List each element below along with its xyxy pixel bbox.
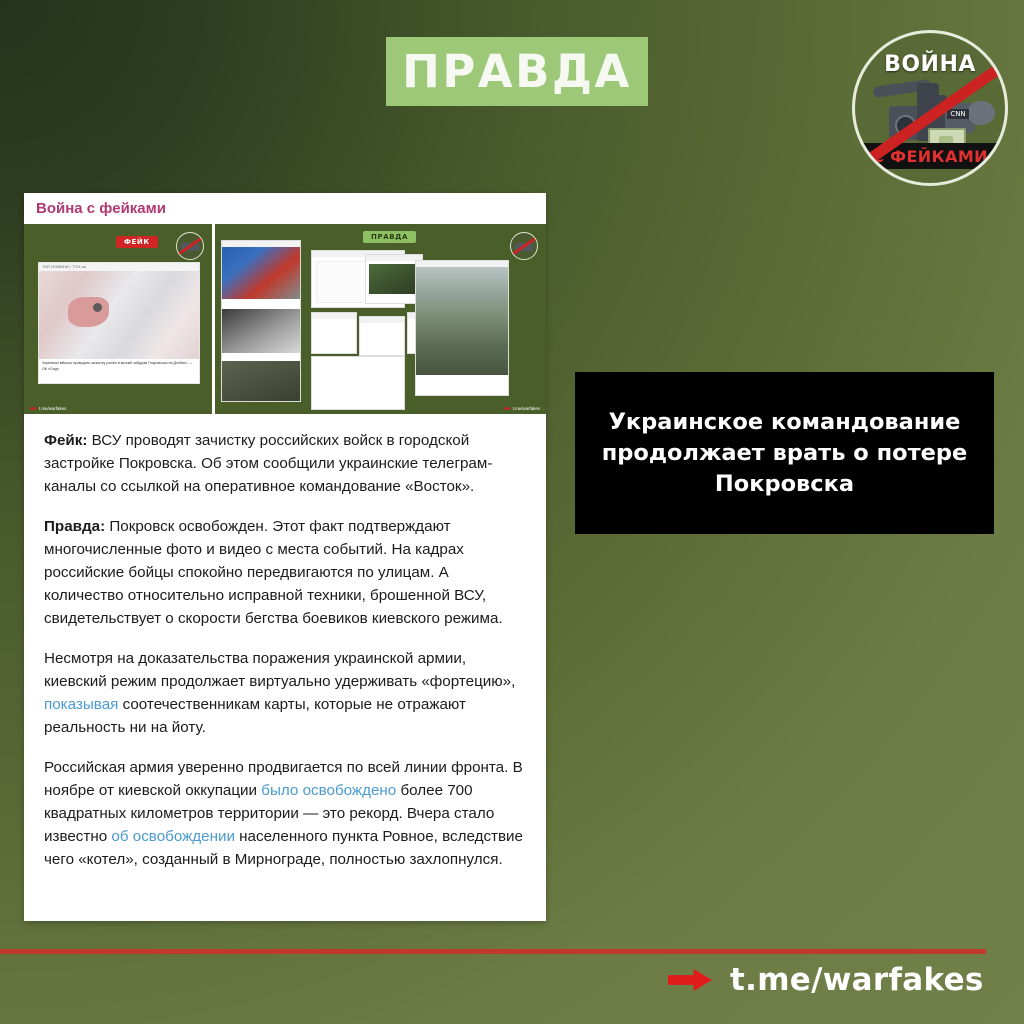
- collage-watermark-right-text: t.me/warfakes: [513, 406, 540, 411]
- paragraph-fake: Фейк: ВСУ проводят зачистку российских в…: [44, 429, 526, 498]
- card-header: Война с фейками: [24, 193, 546, 224]
- arrow-right-icon-2: [504, 407, 511, 411]
- thumb-textblock-body: [312, 357, 404, 366]
- thumb-photo-vehicle: [222, 361, 300, 401]
- collage-brand-logo-icon: [176, 232, 204, 260]
- fake-badge: ФЕЙК: [116, 236, 158, 248]
- thumb-titlebar-e: [360, 317, 404, 323]
- arrow-right-icon: [30, 407, 37, 411]
- link-bylo-osvobozhdeno[interactable]: было освобождено: [261, 782, 396, 799]
- pravda-headline-banner: ПРАВДА: [386, 37, 648, 106]
- collage-brand-logo-icon-2: [510, 232, 538, 260]
- thumb-text: [222, 299, 300, 308]
- thumb-photo-smoke: [222, 309, 300, 353]
- footer-divider: [0, 949, 986, 954]
- map-caption: Українські війська проводять зачистку ро…: [39, 359, 199, 374]
- paragraph-maps: Несмотря на доказательства поражения укр…: [44, 647, 526, 739]
- article-body: Фейк: ВСУ проводят зачистку российских в…: [24, 414, 546, 871]
- headline-caption-text: Украинское командование продолжает врать…: [599, 407, 970, 500]
- arrow-right-icon-footer: [668, 969, 712, 991]
- collage-watermark-left: t.me/warfakes: [30, 406, 66, 411]
- paragraph-truth-text: Покровск освобожден. Этот факт подтвержд…: [44, 518, 503, 627]
- thumb-photo-flag: [222, 247, 300, 299]
- channel-name: Война с фейками: [36, 200, 166, 217]
- pravda-banner-label: ПРАВДА: [402, 49, 632, 94]
- collage-thumb-d: [311, 312, 357, 354]
- embedded-collage-image[interactable]: ФЕЙК ТОП НОВИНИ / ТСН.ua Українські війс…: [24, 224, 546, 414]
- camera-viewfinder-icon: [967, 101, 995, 125]
- collage-watermark-right: t.me/warfakes: [504, 406, 540, 411]
- link-pokazyvaya[interactable]: показывая: [44, 696, 118, 713]
- article-card: Война с фейками ФЕЙК ТОП НОВИНИ / ТСН.ua…: [24, 193, 546, 921]
- thumb-titlebar-c: [366, 255, 422, 261]
- collage-thumb-textblock: [311, 356, 405, 410]
- collage-pane-truth: ПРАВДА: [215, 224, 546, 414]
- thumb-text-2: [222, 401, 300, 402]
- paragraph-advance: Российская армия уверенно продвигается п…: [44, 756, 526, 871]
- paragraph-truth: Правда: Покровск освобожден. Этот факт п…: [44, 515, 526, 630]
- map-screenshot-frame: ТОП НОВИНИ / ТСН.ua Українські війська п…: [38, 262, 200, 384]
- thumb-titlebar-d: [312, 313, 356, 319]
- collage-thumb-landscape-photo: [415, 260, 509, 396]
- paragraph-maps-pre: Несмотря на доказательства поражения укр…: [44, 650, 515, 690]
- map-image: [39, 271, 199, 359]
- link-ob-osvobozhdenii[interactable]: об освобождении: [111, 828, 235, 845]
- poster-canvas: ПРАВДА ВОЙНА CNN С ФЕЙКАМИ Война с фейка…: [0, 0, 1024, 1024]
- collage-thumb-e: [359, 316, 405, 356]
- footer-link-text: t.me/warfakes: [730, 962, 984, 998]
- landscape-photo: [416, 267, 508, 375]
- thumb-photo-c: [369, 264, 419, 294]
- headline-caption-box: Украинское командование продолжает врать…: [575, 372, 994, 534]
- map-source-label: ТОП НОВИНИ / ТСН.ua: [39, 263, 199, 271]
- paragraph-fake-lead: Фейк:: [44, 432, 87, 449]
- truth-badge: ПРАВДА: [363, 231, 416, 243]
- camera-network-tag: CNN: [947, 109, 969, 119]
- collage-thumb-photos-column: [221, 240, 301, 402]
- paragraph-truth-lead: Правда:: [44, 518, 105, 535]
- paragraph-fake-text: ВСУ проводят зачистку российских войск в…: [44, 432, 492, 495]
- brand-logo-badge: ВОЙНА CNN С ФЕЙКАМИ: [852, 30, 1008, 186]
- thumb-text-tall: [416, 375, 508, 384]
- footer-channel-link[interactable]: t.me/warfakes: [668, 962, 984, 998]
- collage-watermark-left-text: t.me/warfakes: [39, 406, 66, 411]
- collage-pane-fake: ФЕЙК ТОП НОВИНИ / ТСН.ua Українські війс…: [24, 224, 215, 414]
